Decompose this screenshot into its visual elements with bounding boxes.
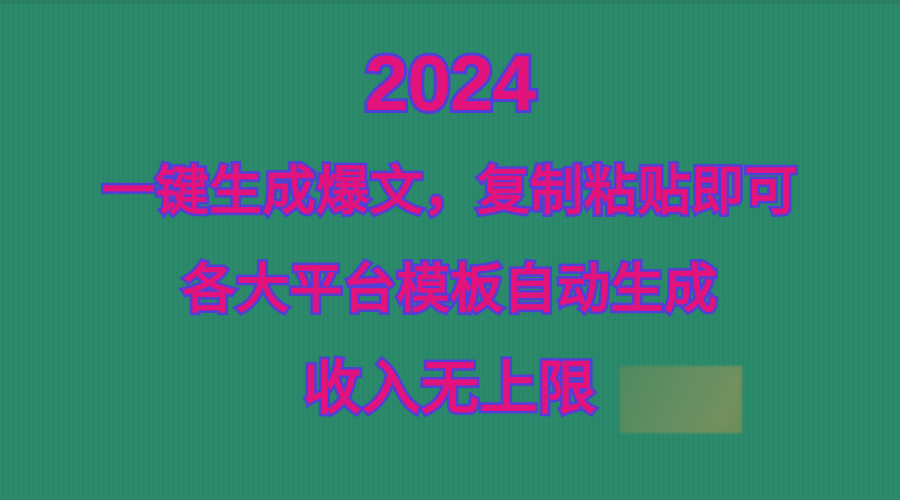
background-top-band bbox=[0, 0, 900, 4]
headline-line-three: 收入无上限 bbox=[0, 357, 900, 421]
censored-region-overlay bbox=[620, 366, 742, 433]
headline-line-one: 一键生成爆文，复制粘贴即可 bbox=[0, 163, 900, 221]
poster-canvas: 2024 一键生成爆文，复制粘贴即可 各大平台模板自动生成 收入无上限 bbox=[0, 0, 900, 500]
headline-year: 2024 bbox=[0, 44, 900, 122]
headline-line-two: 各大平台模板自动生成 bbox=[0, 261, 900, 319]
